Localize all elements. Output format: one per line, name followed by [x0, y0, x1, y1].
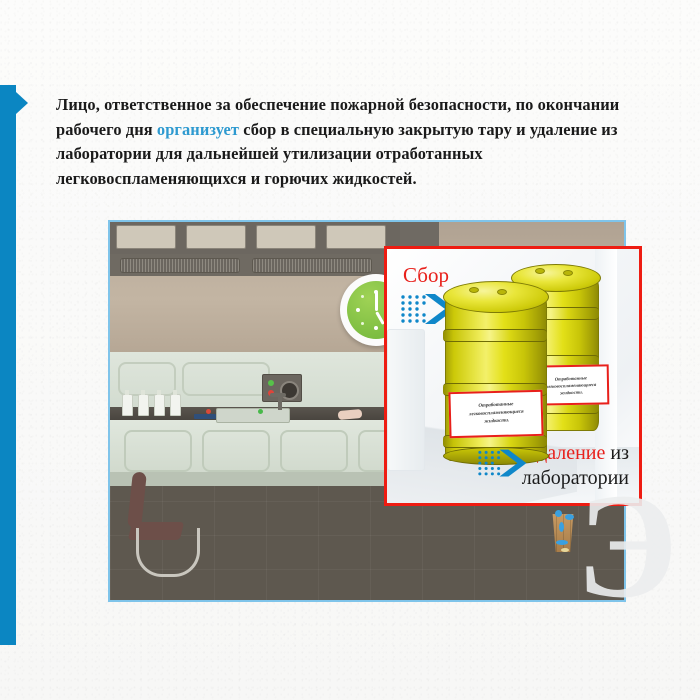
electrical-outlet-box [262, 374, 302, 402]
left-accent-bar [0, 85, 16, 645]
trash-item [556, 540, 568, 545]
lower-cabinet-front [110, 420, 420, 480]
barrel-label-line-2: легковоспламеняющиеся [546, 381, 596, 388]
chevron-right-icon [475, 447, 533, 481]
cabinet-door [280, 430, 348, 472]
trash-item [559, 522, 564, 532]
instrument-tray [194, 414, 216, 419]
laboratory-sink [216, 408, 290, 423]
cabinet-door [202, 430, 270, 472]
overhead-cabinet-door [326, 225, 386, 249]
barrel-label-line-3: жидкости. [484, 418, 509, 424]
reagent-bottle [154, 394, 165, 416]
vent-grille [120, 258, 240, 273]
cabinet-door [124, 430, 192, 472]
clock-minute-hand [375, 292, 378, 311]
reagent-bottle [170, 394, 181, 416]
vent-grille [252, 258, 372, 273]
trash-item [565, 514, 574, 520]
chair-frame [136, 528, 200, 577]
page-paragraph: Лицо, ответственное за обеспечение пожар… [56, 93, 664, 191]
overhead-cabinet-door [256, 225, 316, 249]
clock-tick [361, 322, 364, 325]
barrel-label-line-1: Отработанные [478, 402, 513, 409]
overhead-cabinet-door [116, 225, 176, 249]
paragraph-highlight: организует [157, 120, 239, 139]
red-callout-box: Сбор Отработанные легковоспламеняющиеся [384, 246, 642, 506]
overhead-cabinet-door [186, 225, 246, 249]
overhead-vent-row [110, 254, 400, 276]
left-accent-arrow-icon [16, 92, 28, 114]
indicator-light-green [268, 380, 274, 386]
watermark-logo: Э [576, 496, 694, 614]
clock-tick [361, 295, 364, 298]
barrel-label-line-1: Отработанные [554, 375, 586, 381]
reagent-bottle [122, 394, 133, 416]
faucet-spout [270, 393, 286, 397]
barrel-label-line-2: легковоспламеняющиеся [469, 410, 524, 418]
removal-label-word-rest: из [605, 442, 629, 464]
barrel-front-label: Отработанные легковоспламеняющиеся жидко… [448, 390, 543, 438]
trash-item [555, 510, 562, 517]
callout-collect-label: Сбор [403, 265, 449, 286]
outlet-socket [280, 381, 299, 400]
overhead-cabinet-row [110, 222, 400, 254]
barrel-label-line-3: жидкости. [560, 389, 583, 395]
reagent-bottle [138, 394, 149, 416]
callout-background-cabinet [387, 329, 425, 471]
wall-panel [182, 362, 270, 396]
barrel-front: Отработанные легковоспламеняющиеся жидко… [445, 295, 545, 459]
removal-label-line-2: лаборатории [522, 467, 629, 489]
clock-tick [356, 308, 360, 312]
cabinet-toe-kick [110, 472, 420, 486]
clock-tick [374, 326, 378, 330]
trash-item [561, 548, 569, 552]
cold-tap-handle [258, 409, 263, 414]
